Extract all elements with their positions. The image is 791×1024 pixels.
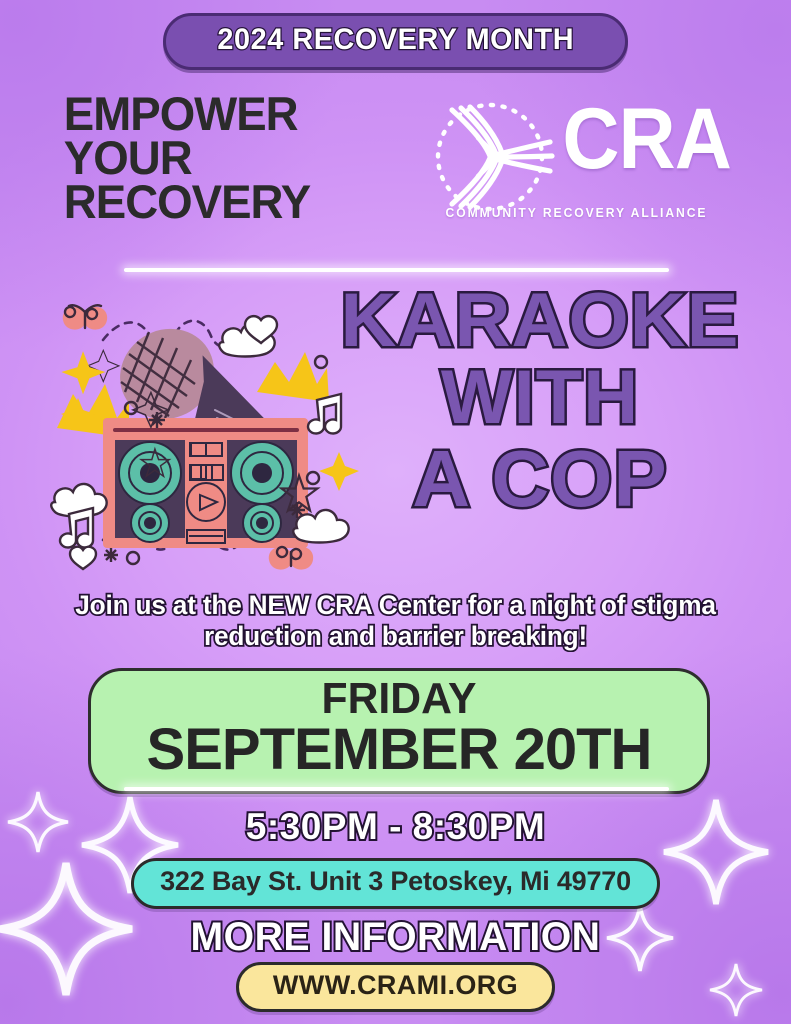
event-address: 322 Bay St. Unit 3 Petoskey, Mi 49770: [131, 858, 660, 909]
event-title-line-2: WITH: [330, 363, 750, 433]
address-row: 322 Bay St. Unit 3 Petoskey, Mi 49770: [0, 858, 791, 909]
header-row: EMPOWER YOUR RECOVERY: [0, 92, 791, 242]
boombox-icon: [103, 418, 308, 548]
recovery-month-badge: 2024 RECOVERY MONTH: [0, 13, 791, 70]
headline-line-3: RECOVERY: [64, 180, 310, 224]
event-title: KARAOKE WITH A COP: [330, 286, 750, 515]
cra-subtitle: COMMUNITY RECOVERY ALLIANCE: [438, 206, 714, 220]
cra-acronym: CRA: [562, 96, 731, 182]
date-weekday: FRIDAY: [100, 677, 698, 722]
headline-line-1: EMPOWER: [64, 92, 310, 136]
date-panel: FRIDAY SEPTEMBER 20TH: [88, 668, 710, 794]
cra-logo: CRA COMMUNITY RECOVERY ALLIANCE: [420, 90, 720, 240]
cra-logo-mark-icon: [428, 94, 556, 220]
event-blurb: Join us at the NEW CRA Center for a nigh…: [63, 590, 727, 651]
date-full: SEPTEMBER 20TH: [91, 722, 707, 779]
event-time: 5:30PM - 8:30PM: [60, 806, 731, 848]
event-title-line-1: KARAOKE: [326, 286, 754, 356]
karaoke-doodle-illustration: [45, 280, 375, 580]
website-row: WWW.CRAMI.ORG: [0, 962, 791, 1012]
website-link[interactable]: WWW.CRAMI.ORG: [236, 962, 555, 1012]
recovery-month-flyer: 2024 RECOVERY MONTH EMPOWER YOUR RECOVER…: [0, 0, 791, 1024]
divider-top: [124, 268, 669, 272]
page-title: EMPOWER YOUR RECOVERY: [64, 92, 310, 225]
more-information-label: MORE INFORMATION: [67, 915, 725, 960]
badge-label: 2024 RECOVERY MONTH: [217, 25, 574, 55]
divider-bottom: [124, 787, 669, 791]
event-title-line-3: A COP: [330, 442, 750, 516]
headline-line-2: YOUR: [64, 136, 310, 180]
